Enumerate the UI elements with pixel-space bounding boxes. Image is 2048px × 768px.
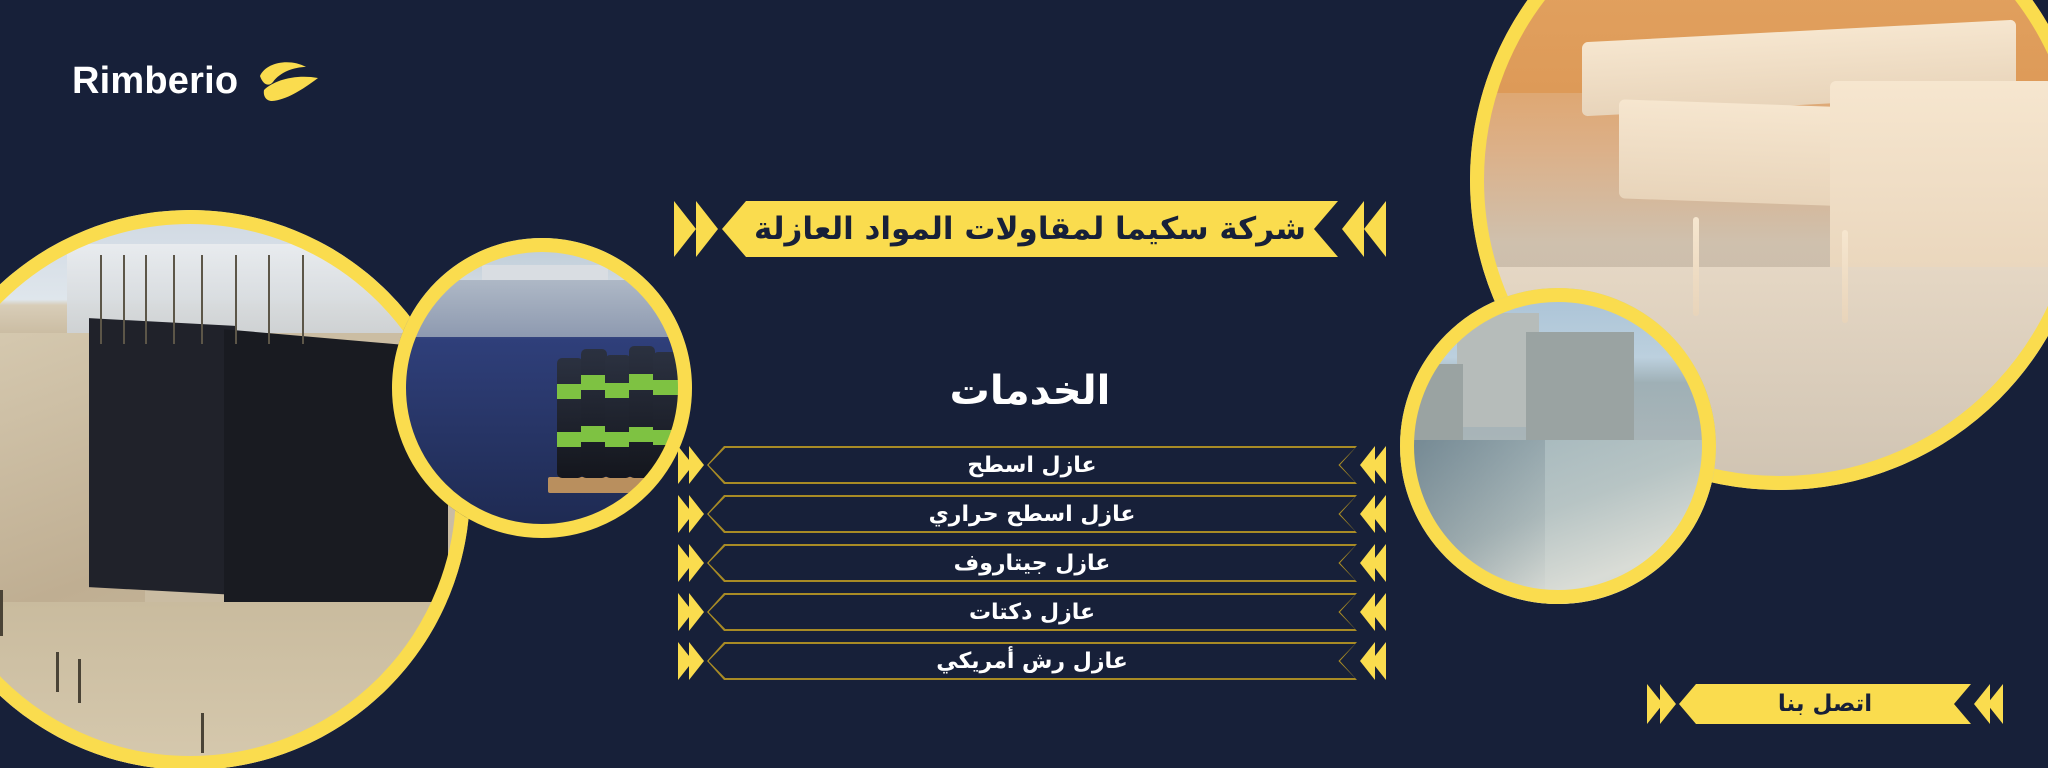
brand-name: Rimberio — [72, 60, 238, 103]
chevron-right-icon — [682, 642, 704, 680]
chevron-left-icon — [1360, 642, 1382, 680]
service-item[interactable]: عازل اسطح حراري — [682, 494, 1382, 534]
service-label: عازل جيتاروف — [954, 551, 1111, 576]
center-content: شركة سكيما لمقاولات المواد العازلة الخدم… — [700, 0, 1360, 768]
chevron-left-icon — [1342, 201, 1364, 257]
chevron-right-icon — [682, 544, 704, 582]
contact-us-button[interactable]: اتصل بنا — [1650, 682, 2000, 726]
chevron-right-icon — [682, 593, 704, 631]
service-item[interactable]: عازل دكتات — [682, 592, 1382, 632]
chevron-left-icon — [1360, 446, 1382, 484]
service-label: عازل دكتات — [969, 600, 1095, 625]
chevron-left-icon — [1360, 495, 1382, 533]
headline-text: شركة سكيما لمقاولات المواد العازلة — [740, 211, 1320, 247]
promotional-banner: Rimberio شركة سكيما لمقاولات المواد العا… — [0, 0, 2048, 768]
chevron-left-icon — [1360, 593, 1382, 631]
service-item[interactable]: عازل جيتاروف — [682, 543, 1382, 583]
services-heading: الخدمات — [700, 368, 1360, 414]
chevron-right-icon — [682, 446, 704, 484]
chevron-right-icon — [674, 201, 696, 257]
left-small-photo-ring — [392, 238, 692, 538]
chevron-right-icon — [682, 495, 704, 533]
chevron-left-icon — [1364, 201, 1386, 257]
chevron-left-icon — [1974, 684, 1990, 724]
services-list: عازل اسطح عازل اسطح حراري عازل جيتاروف — [682, 445, 1382, 681]
headline-banner: شركة سكيما لمقاولات المواد العازلة — [674, 198, 1386, 260]
service-label: عازل رش أمريكي — [936, 649, 1128, 674]
service-label: عازل اسطح حراري — [929, 502, 1136, 527]
chevron-right-icon — [1647, 684, 1663, 724]
leaf-swoosh-icon — [256, 56, 322, 106]
contact-us-label: اتصل بنا — [1778, 691, 1872, 717]
brand-logo[interactable]: Rimberio — [72, 56, 322, 106]
right-small-photo-ring — [1400, 288, 1716, 604]
chevron-left-icon — [1360, 544, 1382, 582]
chevron-right-icon — [696, 201, 718, 257]
service-label: عازل اسطح — [967, 453, 1096, 478]
service-item[interactable]: عازل اسطح — [682, 445, 1382, 485]
service-item[interactable]: عازل رش أمريكي — [682, 641, 1382, 681]
